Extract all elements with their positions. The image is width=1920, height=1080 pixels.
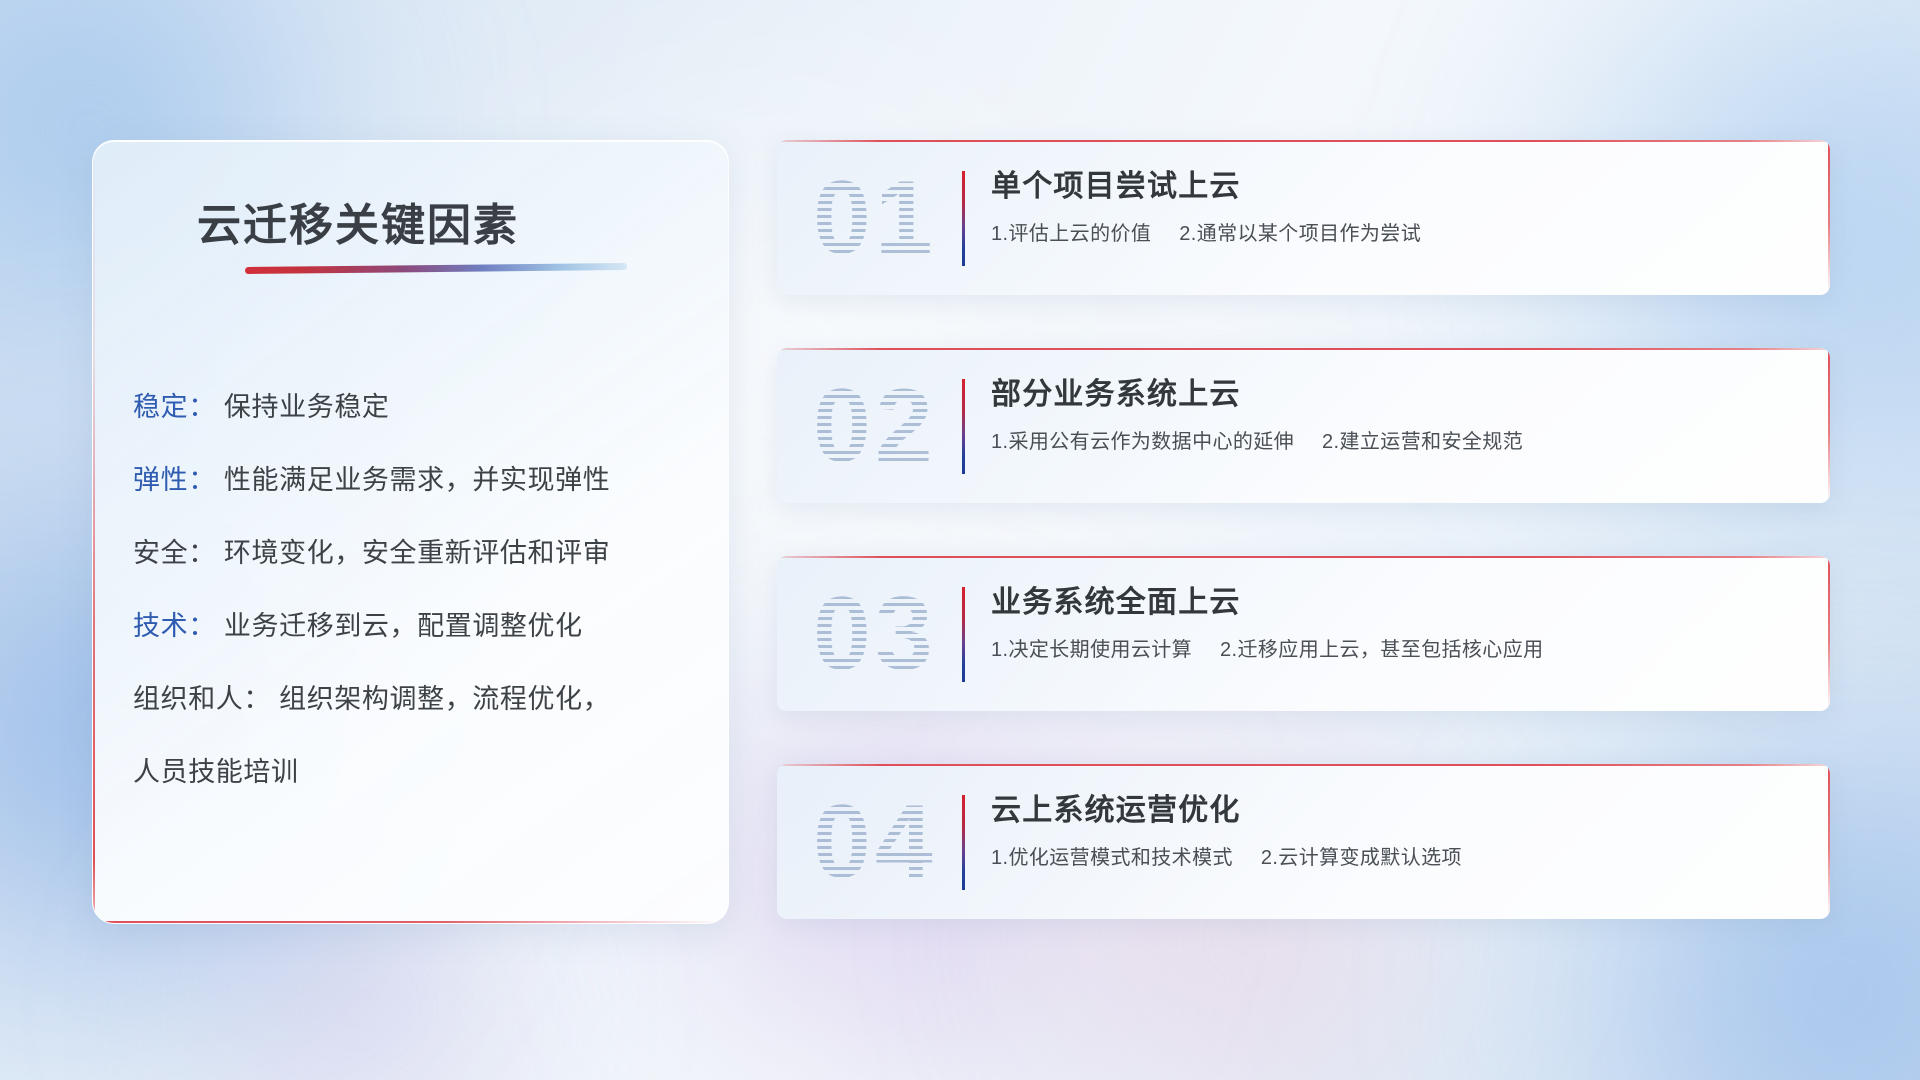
stage-detail-item-1: 1.采用公有云作为数据中心的延伸 (991, 431, 1294, 453)
stage-card-03[interactable]: 03 业务系统全面上云 1.决定长期使用云计算 2.迁移应用上云，甚至包括核心应… (777, 556, 1830, 711)
stage-detail-item-2: 2.通常以某个项目作为尝试 (1179, 223, 1421, 245)
stage-number-text: 01 (813, 166, 937, 270)
list-item: 技术： 业务迁移到云，配置调整优化 (133, 590, 702, 663)
stage-detail-item-1: 1.决定长期使用云计算 (991, 639, 1192, 661)
stage-card-02[interactable]: 02 部分业务系统上云 1.采用公有云作为数据中心的延伸 2.建立运营和安全规范 (777, 348, 1830, 503)
stage-divider-gradient (962, 795, 965, 890)
factor-label: 安全： (133, 538, 216, 568)
stage-detail: 1.评估上云的价值 2.通常以某个项目作为尝试 (991, 220, 1804, 248)
stage-divider-gradient (962, 379, 965, 474)
key-factors-panel: 云迁移关键因素 稳定： 保持业务稳定 弹性： 性能满足业务需求，并实现弹性 安全… (92, 140, 729, 924)
stage-title: 单个项目尝试上云 (991, 166, 1804, 208)
factor-label: 弹性： (133, 465, 216, 495)
factor-label: 稳定： (133, 392, 216, 422)
stage-card-body: 云上系统运营优化 1.优化运营模式和技术模式 2.云计算变成默认选项 (991, 790, 1804, 872)
stage-card-04[interactable]: 04 云上系统运营优化 1.优化运营模式和技术模式 2.云计算变成默认选项 (777, 764, 1830, 919)
stage-detail-item-2: 2.迁移应用上云，甚至包括核心应用 (1220, 639, 1543, 661)
slide-stage: 云迁移关键因素 稳定： 保持业务稳定 弹性： 性能满足业务需求，并实现弹性 安全… (0, 0, 1920, 1080)
stage-divider-gradient (962, 171, 965, 266)
stage-number-03: 03 (813, 582, 937, 686)
stage-detail: 1.优化运营模式和技术模式 2.云计算变成默认选项 (991, 844, 1804, 872)
list-item: 弹性： 性能满足业务需求，并实现弹性 (133, 444, 702, 517)
stage-detail-item-1: 1.评估上云的价值 (991, 223, 1151, 245)
stage-detail-item-2: 2.云计算变成默认选项 (1261, 847, 1462, 869)
stage-divider-gradient (962, 587, 965, 682)
factor-text: 组织架构调整，流程优化， (279, 684, 610, 714)
factor-text: 业务迁移到云，配置调整优化 (224, 611, 583, 641)
stage-number-01: 01 (813, 166, 937, 270)
stage-number-text: 04 (813, 790, 937, 894)
stage-detail-item-2: 2.建立运营和安全规范 (1322, 431, 1523, 453)
stage-title: 业务系统全面上云 (991, 582, 1804, 624)
factor-label: 组织和人： (133, 684, 271, 714)
title-underline-gradient (245, 263, 627, 274)
list-item: 稳定： 保持业务稳定 (133, 371, 702, 444)
stage-number-04: 04 (813, 790, 937, 894)
stage-detail: 1.决定长期使用云计算 2.迁移应用上云，甚至包括核心应用 (991, 636, 1804, 664)
stage-detail: 1.采用公有云作为数据中心的延伸 2.建立运营和安全规范 (991, 428, 1804, 456)
stage-title: 云上系统运营优化 (991, 790, 1804, 832)
stage-number-text: 02 (813, 374, 937, 478)
stage-card-body: 单个项目尝试上云 1.评估上云的价值 2.通常以某个项目作为尝试 (991, 166, 1804, 248)
factor-text: 人员技能培训 (133, 757, 299, 787)
stage-card-body: 业务系统全面上云 1.决定长期使用云计算 2.迁移应用上云，甚至包括核心应用 (991, 582, 1804, 664)
stage-number-02: 02 (813, 374, 937, 478)
factor-text: 性能满足业务需求，并实现弹性 (224, 465, 610, 495)
stage-card-01[interactable]: 01 单个项目尝试上云 1.评估上云的价值 2.通常以某个项目作为尝试 (777, 140, 1830, 295)
stage-card-body: 部分业务系统上云 1.采用公有云作为数据中心的延伸 2.建立运营和安全规范 (991, 374, 1804, 456)
factor-text: 保持业务稳定 (224, 392, 390, 422)
list-item: 人员技能培训 (133, 736, 702, 809)
list-item: 安全： 环境变化，安全重新评估和评审 (133, 517, 702, 590)
stage-number-text: 03 (813, 582, 937, 686)
stage-cards-list: 01 单个项目尝试上云 1.评估上云的价值 2.通常以某个项目作为尝试 02 部… (777, 140, 1830, 972)
factor-text: 环境变化，安全重新评估和评审 (224, 538, 610, 568)
list-item: 组织和人： 组织架构调整，流程优化， (133, 663, 702, 736)
factor-label: 技术： (133, 611, 216, 641)
stage-title: 部分业务系统上云 (991, 374, 1804, 416)
stage-detail-item-1: 1.优化运营模式和技术模式 (991, 847, 1233, 869)
page-title: 云迁移关键因素 (197, 189, 519, 253)
key-factors-list: 稳定： 保持业务稳定 弹性： 性能满足业务需求，并实现弹性 安全： 环境变化，安… (133, 371, 702, 809)
